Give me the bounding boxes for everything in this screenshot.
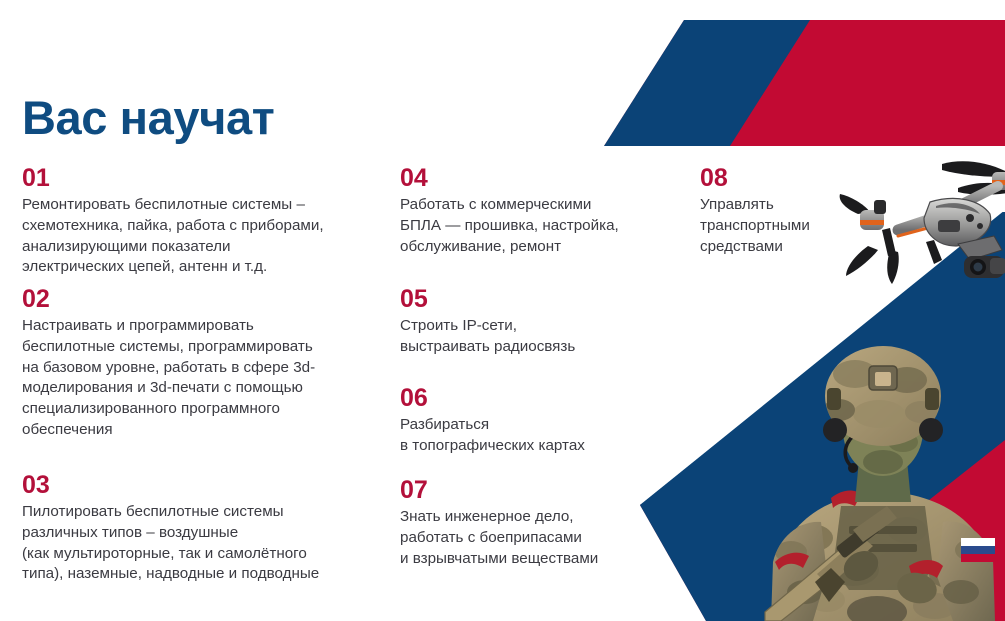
benefit-number-06: 06 — [400, 385, 585, 411]
benefit-item-07: 07 Знать инженерное дело, работать с бое… — [400, 477, 598, 569]
drone-rotor-blades — [840, 161, 1005, 284]
benefit-text-04: Работать с коммерческими БПЛА — прошивка… — [400, 195, 619, 257]
page-title: Вас научат — [22, 92, 274, 144]
lower-navy-band-shape — [640, 210, 1005, 560]
white-separator-notch — [835, 146, 1005, 212]
benefit-number-02: 02 — [22, 286, 315, 312]
top-banner-navy-parallelogram — [604, 20, 810, 146]
benefit-number-03: 03 — [22, 472, 319, 498]
benefit-text-07: Знать инженерное дело, работать с боепри… — [400, 507, 598, 569]
benefit-item-02: 02 Настраивать и программировать беспило… — [22, 286, 315, 440]
benefit-item-05: 05 Строить IP-сети, выстраивать радиосвя… — [400, 286, 575, 358]
lower-navy-overlay — [640, 212, 1005, 621]
lower-red-diagonal-band — [640, 268, 1005, 621]
benefit-item-04: 04 Работать с коммерческими БПЛА — проши… — [400, 165, 619, 257]
drone-gimbal-camera — [958, 236, 1005, 278]
top-banner-red-parallelogram — [604, 20, 1005, 146]
soldier-goggles — [843, 402, 923, 429]
benefit-number-04: 04 — [400, 165, 619, 191]
benefit-number-07: 07 — [400, 477, 598, 503]
benefit-item-08: 08 Управлять транспортными средствами — [700, 165, 810, 257]
benefit-text-01: Ремонтировать беспилотные системы – схем… — [22, 195, 324, 278]
soldier-rifle — [765, 506, 897, 621]
drone-landing-legs — [882, 228, 942, 264]
lower-navy-diagonal-band — [640, 268, 1005, 621]
soldier-photo — [757, 330, 1005, 621]
benefit-item-03: 03 Пилотировать беспилотные системы разл… — [22, 472, 319, 585]
russian-flag-arm-patch — [961, 538, 995, 562]
benefit-text-05: Строить IP-сети, выстраивать радиосвязь — [400, 316, 575, 357]
drone-photo — [838, 158, 1005, 318]
benefit-text-03: Пилотировать беспилотные системы различн… — [22, 502, 319, 585]
soldier-arms — [771, 521, 995, 621]
drone-body — [924, 198, 991, 246]
drone-motors — [860, 172, 1005, 230]
slide-canvas: Вас научат 01 Ремонтировать беспилотные … — [0, 0, 1005, 621]
soldier-neck — [855, 460, 911, 502]
benefit-item-01: 01 Ремонтировать беспилотные системы – с… — [22, 165, 324, 278]
soldier-helmet — [823, 346, 943, 446]
soldier-face-mask — [843, 384, 923, 476]
benefit-text-02: Настраивать и программировать беспилотны… — [22, 316, 315, 440]
benefit-number-01: 01 — [22, 165, 324, 191]
drone-arms — [898, 186, 998, 236]
soldier-torso — [777, 494, 993, 621]
benefit-number-05: 05 — [400, 286, 575, 312]
soldier-gloves — [839, 545, 941, 607]
soldier-strap-accents — [775, 491, 943, 580]
benefit-number-08: 08 — [700, 165, 810, 191]
benefit-item-06: 06 Разбираться в топографических картах — [400, 385, 585, 457]
benefit-text-08: Управлять транспортными средствами — [700, 195, 810, 257]
benefit-text-06: Разбираться в топографических картах — [400, 415, 585, 456]
